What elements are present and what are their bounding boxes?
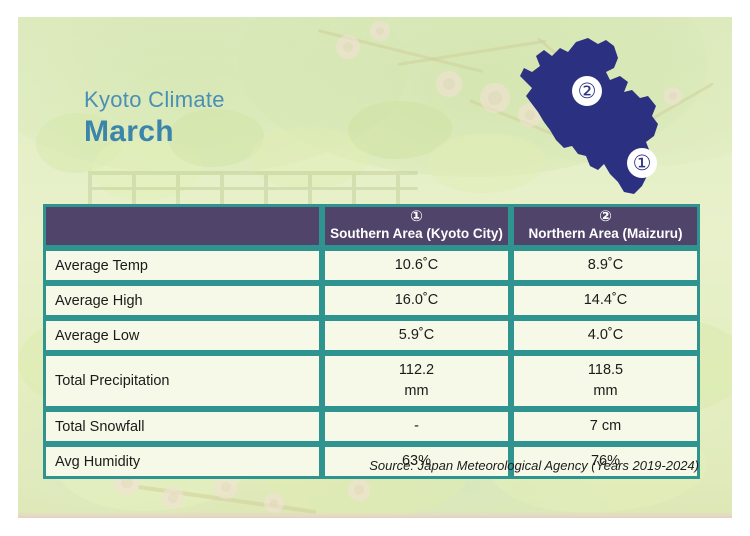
page-subtitle: Kyoto Climate — [84, 88, 225, 111]
row-value-northern: 7 cm — [511, 409, 700, 444]
row-value-northern: 8.9˚C — [511, 248, 700, 283]
row-value-southern: 10.6˚C — [322, 248, 511, 283]
header-label-northern: Northern Area (Maizuru) — [528, 226, 682, 241]
row-value-unit: mm — [327, 381, 506, 402]
row-value-northern: 4.0˚C — [511, 318, 700, 353]
table-row: Average Low 5.9˚C 4.0˚C — [43, 318, 700, 353]
table-row: Average Temp 10.6˚C 8.9˚C — [43, 248, 700, 283]
row-label: Average Temp — [43, 248, 322, 283]
row-value-northern: 118.5 mm — [511, 353, 700, 409]
header-number-2: ② — [514, 209, 697, 225]
map-marker-2[interactable]: ② — [572, 76, 602, 106]
cherry-blossom — [162, 487, 184, 509]
source-attribution: Source: Japan Meteorological Agency (Yea… — [369, 458, 699, 473]
kyoto-prefecture-map[interactable]: ② ① — [506, 24, 706, 204]
cherry-blossom — [436, 71, 462, 97]
cherry-blossom — [348, 479, 370, 501]
header-label-southern: Southern Area (Kyoto City) — [330, 226, 503, 241]
map-marker-1[interactable]: ① — [627, 148, 657, 178]
cherry-blossom — [336, 35, 360, 59]
row-value-unit: mm — [516, 381, 695, 402]
row-value-northern: 14.4˚C — [511, 283, 700, 318]
header-cell-northern: ② Northern Area (Maizuru) — [511, 204, 700, 248]
row-value-number: 112.2 — [399, 362, 434, 378]
row-label: Avg Humidity — [43, 444, 322, 479]
table-row: Total Precipitation 112.2 mm 118.5 mm — [43, 353, 700, 409]
header-cell-blank — [43, 204, 322, 248]
bottom-color-band — [18, 512, 732, 518]
row-value-number: 118.5 — [588, 362, 623, 378]
table-row: Total Snowfall - 7 cm — [43, 409, 700, 444]
row-value-southern: 5.9˚C — [322, 318, 511, 353]
row-label: Average High — [43, 283, 322, 318]
row-value-southern: 16.0˚C — [322, 283, 511, 318]
cherry-blossom — [264, 493, 284, 513]
table-row: Average High 16.0˚C 14.4˚C — [43, 283, 700, 318]
header-cell-southern: ① Southern Area (Kyoto City) — [322, 204, 511, 248]
climate-data-table: ① Southern Area (Kyoto City) ② Northern … — [43, 204, 700, 479]
table-header-row: ① Southern Area (Kyoto City) ② Northern … — [43, 204, 700, 248]
headline: Kyoto Climate March — [84, 88, 225, 150]
row-label: Total Precipitation — [43, 353, 322, 409]
cherry-blossom — [370, 21, 390, 41]
row-value-southern: 112.2 mm — [322, 353, 511, 409]
row-value-southern: - — [322, 409, 511, 444]
climate-infographic-poster: Kyoto Climate March ② ① ① Southern Area … — [0, 0, 750, 536]
row-label: Average Low — [43, 318, 322, 353]
row-label: Total Snowfall — [43, 409, 322, 444]
page-title: March — [84, 115, 225, 150]
header-number-1: ① — [325, 209, 508, 225]
